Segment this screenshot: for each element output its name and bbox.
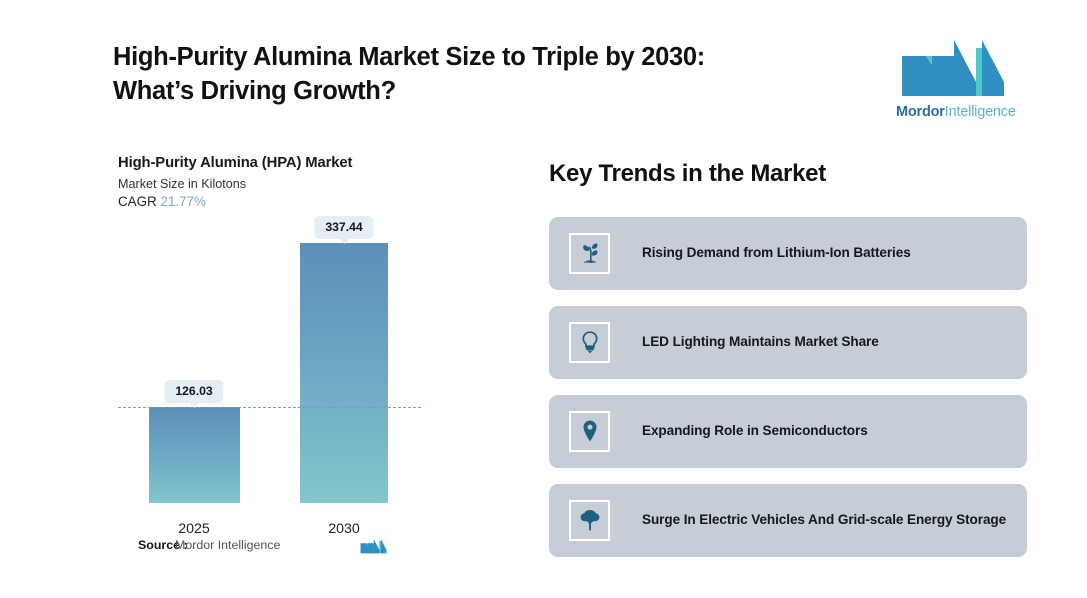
bar-value-label-2025: 126.03	[164, 380, 223, 403]
key-trends-heading: Key Trends in the Market	[549, 160, 1027, 189]
chart-title: High-Purity Alumina (HPA) Market	[118, 155, 438, 171]
seedling-plant-icon	[569, 233, 610, 274]
bar-2030	[300, 243, 388, 503]
chart-source-row: Source : Mordor Intelligence	[118, 535, 438, 561]
trend-card-label: LED Lighting Maintains Market Share	[642, 333, 879, 352]
source-value: Mordor Intelligence	[175, 538, 280, 552]
chart-panel: High-Purity Alumina (HPA) Market Market …	[118, 155, 438, 565]
cagr-value: 21.77%	[160, 194, 205, 209]
mordor-m-logo-icon	[896, 38, 1014, 101]
lightbulb-icon	[569, 322, 610, 363]
bar-chart-plot: 126.03 337.44 2025 2030	[118, 219, 438, 509]
trend-card-lithium-ion-batteries[interactable]: Rising Demand from Lithium-Ion Batteries	[549, 217, 1027, 290]
map-pin-icon	[569, 411, 610, 452]
trend-card-semiconductors[interactable]: Expanding Role in Semiconductors	[549, 395, 1027, 468]
chart-subtitle: Market Size in Kilotons	[118, 177, 438, 191]
brand-name-part-1: Mordor	[896, 104, 945, 120]
bar-2025	[149, 407, 240, 503]
trend-card-label: Rising Demand from Lithium-Ion Batteries	[642, 244, 911, 263]
source-mordor-logo-icon	[359, 535, 389, 562]
infographic-page: High-Purity Alumina Market Size to Tripl…	[0, 0, 1087, 598]
chart-cagr: CAGR 21.77%	[118, 194, 438, 209]
tree-icon	[569, 500, 610, 541]
bar-value-label-2030: 337.44	[314, 216, 373, 239]
trend-card-led-lighting[interactable]: LED Lighting Maintains Market Share	[549, 306, 1027, 379]
trend-card-label: Surge In Electric Vehicles And Grid-scal…	[642, 511, 1006, 530]
key-trends-list: Rising Demand from Lithium-Ion Batteries…	[549, 217, 1027, 557]
page-title-line-2: What’s Driving Growth?	[113, 75, 833, 109]
mordor-intelligence-wordmark: MordorIntelligence	[896, 104, 1014, 120]
key-trends-panel: Key Trends in the Market Rising Demand f…	[549, 160, 1027, 573]
cagr-label: CAGR	[118, 194, 157, 209]
page-title-line-1: High-Purity Alumina Market Size to Tripl…	[113, 41, 833, 75]
brand-name-part-2: Intelligence	[945, 104, 1016, 120]
mordor-intelligence-logo: MordorIntelligence	[896, 38, 1014, 114]
page-title: High-Purity Alumina Market Size to Tripl…	[113, 41, 833, 109]
trend-card-electric-vehicles[interactable]: Surge In Electric Vehicles And Grid-scal…	[549, 484, 1027, 557]
benchmark-dashed-line	[118, 407, 421, 408]
trend-card-label: Expanding Role in Semiconductors	[642, 422, 868, 441]
